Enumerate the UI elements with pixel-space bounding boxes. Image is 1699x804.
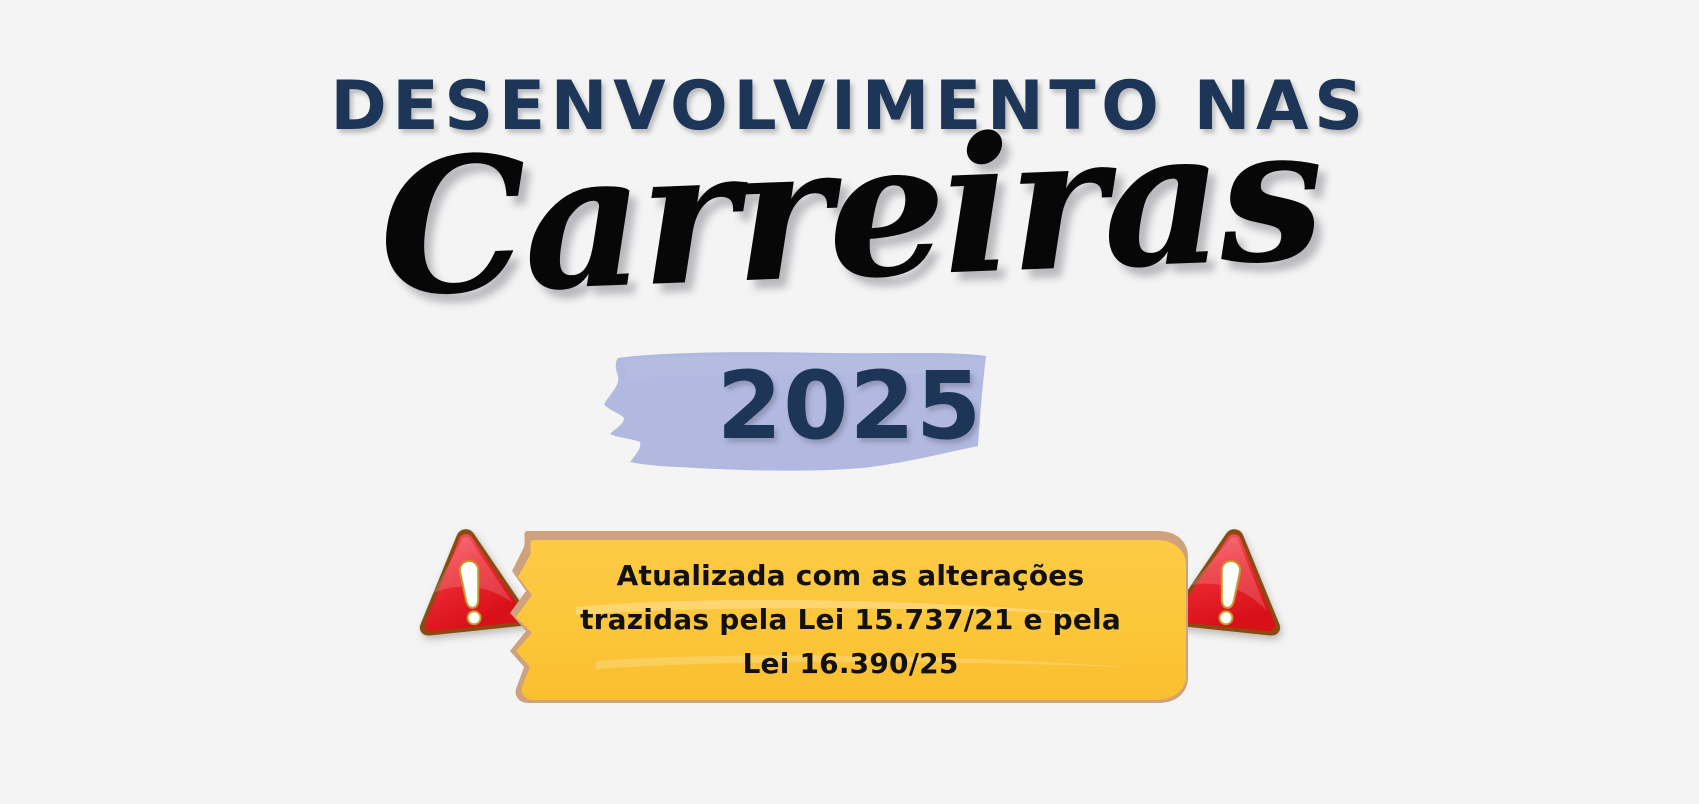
ribbon-shape: Atualizada com as alterações trazidas pe… [498, 527, 1198, 707]
slide-canvas: DESENVOLVIMENTO NAS Carreiras 2025 [0, 0, 1699, 804]
banner-line-2: trazidas pela Lei 15.737/21 e pela [580, 601, 1121, 639]
notice-banner: Atualizada com as alterações trazidas pe… [0, 505, 1699, 720]
year-block: 2025 [0, 336, 1699, 486]
banner-line-3: Lei 16.390/25 [742, 645, 958, 683]
year-label: 2025 [0, 360, 1699, 454]
banner-text-block: Atualizada com as alterações trazidas pe… [506, 537, 1196, 703]
banner-line-1: Atualizada com as alterações [617, 557, 1085, 595]
